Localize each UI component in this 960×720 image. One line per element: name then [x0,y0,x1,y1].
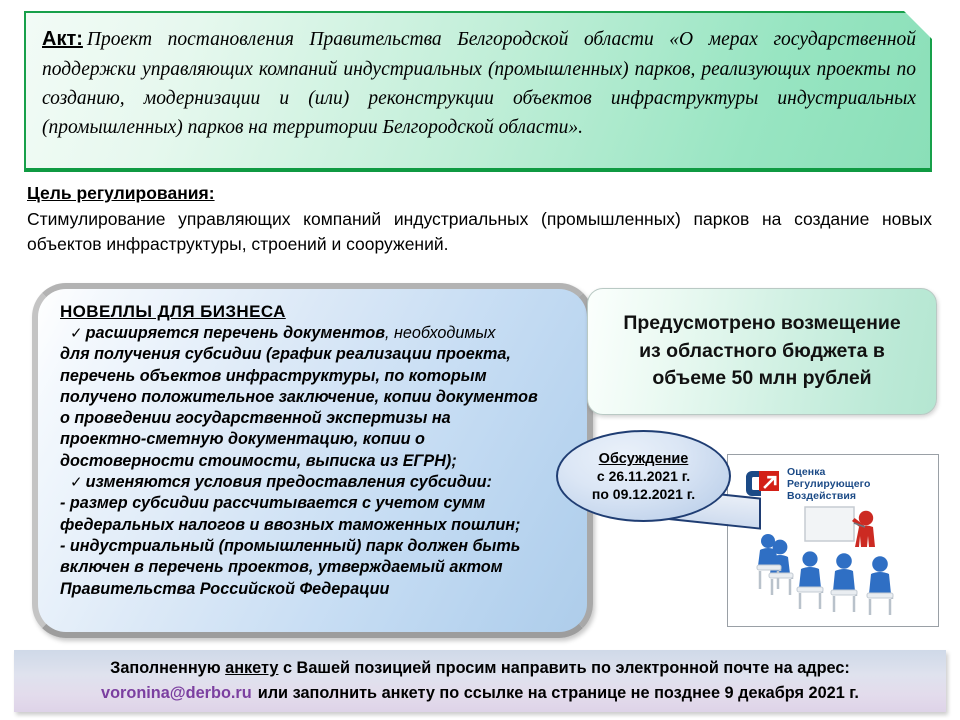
orv-logo-line-1: Оценка [787,466,871,478]
novelty-line-text: получено положительное заключение, копии… [60,388,538,406]
orv-arrow-icon [745,468,781,500]
novelty-line: о проведении государственной экспертизы … [60,408,569,429]
novelty-line: перечень объектов инфраструктуры, по кот… [60,366,569,387]
goal-body: Стимулирование управляющих компаний инду… [27,207,932,257]
business-novelties-panel: НОВЕЛЛЫ ДЛЯ БИЗНЕСА ✓расширяется перечен… [32,283,593,638]
novelty-line-text: Правительства Российской Федерации [60,580,389,598]
novelty-line-text: достоверности стоимости, выписка из ЕГРН… [60,452,457,470]
novelties-list: ✓расширяется перечень документов, необхо… [60,323,569,600]
footer-survey-link[interactable]: анкету [225,659,278,677]
novelty-line: ✓изменяются условия предоставления субси… [60,472,569,493]
footer-text-a: Заполненную [110,659,225,677]
footer-email-link[interactable]: voronina@derbo.ru [101,684,258,702]
budget-text: Предусмотрено возмещение из областного б… [623,310,900,393]
novelty-line: ✓расширяется перечень документов, необхо… [60,323,569,344]
footer-text-c: или заполнить анкету по ссылке на страни… [258,684,859,702]
budget-line-3: объеме 50 млн рублей [623,365,900,393]
orv-mark-svg [745,468,781,500]
novelty-line-text: федеральных налогов и ввозных таможенных… [60,516,520,534]
footer-text-b: с Вашей позицией просим направить по эле… [278,659,849,677]
footer-line-1: Заполненную анкету с Вашей позицией прос… [110,656,850,681]
orv-logo-text: Оценка Регулирующего Воздействия [787,466,871,503]
goal-title: Цель регулирования: [27,183,932,205]
act-callout-box: Акт:Проект постановления Правительства Б… [24,11,932,172]
novelties-title: НОВЕЛЛЫ ДЛЯ БИЗНЕСА [60,302,569,322]
novelty-line: Правительства Российской Федерации [60,579,569,600]
novelty-line-text: - индустриальный (промышленный) парк дол… [60,537,520,555]
orv-logo-line-2: Регулирующего [787,478,871,490]
discussion-title: Обсуждение [599,450,689,468]
novelty-line: - размер субсидии рассчитывается с учето… [60,493,569,514]
novelty-line-text: о проведении государственной экспертизы … [60,409,451,427]
novelty-line: для получения субсидии (график реализаци… [60,344,569,365]
budget-reimbursement-box: Предусмотрено возмещение из областного б… [587,288,937,415]
act-text: Акт:Проект постановления Правительства Б… [42,25,916,142]
novelty-line-text: - размер субсидии рассчитывается с учето… [60,494,485,512]
novelty-line-emphasis: изменяются условия предоставления субсид… [86,473,492,491]
novelty-line-text: для получения субсидии (график реализаци… [60,345,511,363]
footer-contact-bar: Заполненную анкету с Вашей позицией прос… [14,650,946,712]
novelty-line-text: , необходимых [385,324,495,342]
orv-image-card: Оценка Регулирующего Воздействия [727,454,939,627]
act-body: Проект постановления Правительства Белго… [42,29,916,138]
budget-line-1: Предусмотрено возмещение [623,310,900,338]
novelty-line: получено положительное заключение, копии… [60,387,569,408]
novelty-line-emphasis: расширяется перечень документов [86,324,385,342]
act-label: Акт: [42,28,87,50]
goal-section: Цель регулирования: Стимулирование управ… [27,183,932,257]
budget-line-2: из областного бюджета в [623,338,900,366]
novelty-line: включен в перечень проектов, утверждаемы… [60,557,569,578]
novelty-line-text: перечень объектов инфраструктуры, по кот… [60,367,487,385]
check-icon: ✓ [70,474,86,491]
novelty-line: - индустриальный (промышленный) парк дол… [60,536,569,557]
footer-line-2: voronina@derbo.ruили заполнить анкету по… [101,681,859,706]
discussion-date-from: с 26.11.2021 г. [597,468,690,486]
discussion-bubble: Обсуждение с 26.11.2021 г. по 09.12.2021… [556,430,731,522]
novelty-line-text: проектно-сметную документацию, копии о [60,430,425,448]
novelty-line: достоверности стоимости, выписка из ЕГРН… [60,451,569,472]
check-icon: ✓ [70,325,86,342]
novelty-line: проектно-сметную документацию, копии о [60,429,569,450]
discussion-date-to: по 09.12.2021 г. [592,486,695,504]
novelty-line-text: включен в перечень проектов, утверждаемы… [60,558,503,576]
novelty-line: федеральных налогов и ввозных таможенных… [60,515,569,536]
orv-logo: Оценка Регулирующего Воздействия [745,466,871,503]
